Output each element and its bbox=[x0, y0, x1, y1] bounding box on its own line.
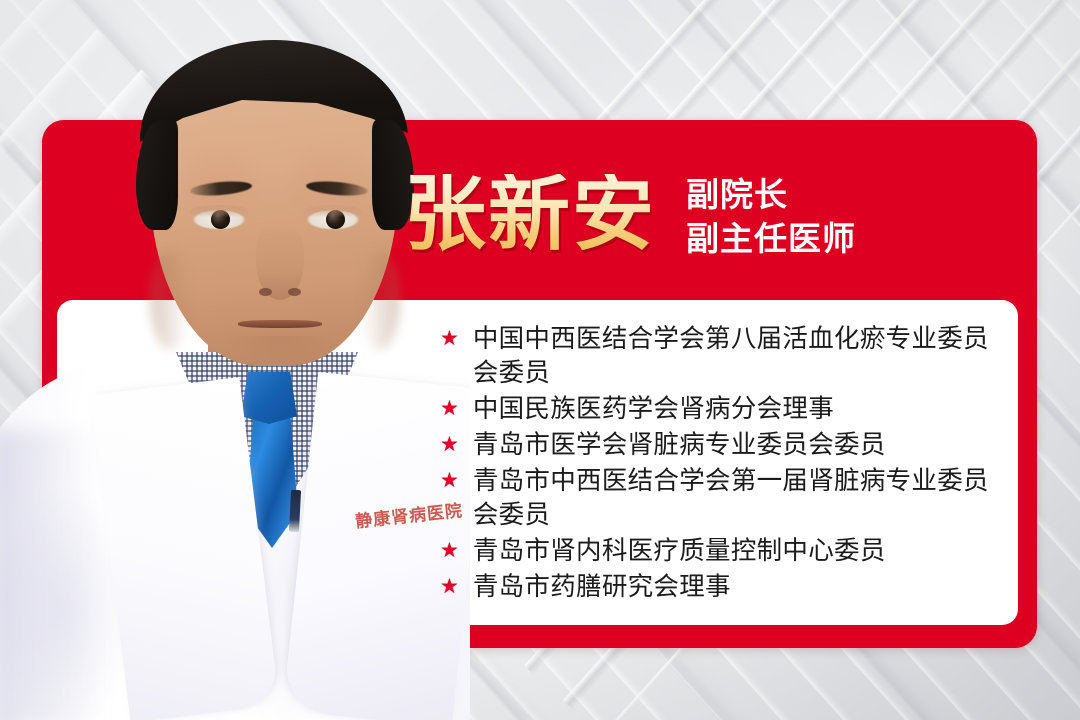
credential-text: 青岛市肾内科医疗质量控制中心委员 bbox=[473, 534, 886, 568]
credential-item: ★ 青岛市药膳研究会理事 bbox=[440, 570, 1010, 604]
nostril-right bbox=[288, 288, 301, 296]
star-bullet-icon: ★ bbox=[440, 322, 459, 356]
credential-item: ★ 中国民族医药学会肾病分会理事 bbox=[440, 392, 1010, 426]
credentials-list: ★ 中国中西医结合学会第八届活血化瘀专业委员会委员 ★ 中国民族医药学会肾病分会… bbox=[440, 322, 1010, 606]
doctor-name: 张新安 bbox=[404, 174, 656, 256]
credential-item: ★ 中国中西医结合学会第八届活血化瘀专业委员会委员 bbox=[440, 322, 1010, 390]
doctor-portrait-photo: 静康肾病医院 bbox=[0, 0, 470, 720]
star-bullet-icon: ★ bbox=[440, 534, 459, 568]
eyelid-left bbox=[190, 205, 248, 217]
star-bullet-icon: ★ bbox=[440, 570, 459, 604]
credential-text: 青岛市药膳研究会理事 bbox=[473, 570, 731, 604]
credential-text: 中国中西医结合学会第八届活血化瘀专业委员会委员 bbox=[473, 322, 1010, 390]
credential-item: ★ 青岛市肾内科医疗质量控制中心委员 bbox=[440, 534, 1010, 568]
credential-text: 青岛市医学会肾脏病专业委员会委员 bbox=[473, 428, 886, 462]
credential-item: ★ 青岛市医学会肾脏病专业委员会委员 bbox=[440, 428, 1010, 462]
credential-text: 青岛市中西医结合学会第一届肾脏病专业委员会委员 bbox=[473, 464, 1010, 532]
doctor-title-secondary: 副主任医师 bbox=[686, 220, 856, 258]
doctor-title-primary: 副院长 bbox=[686, 176, 856, 214]
mouth bbox=[238, 320, 322, 328]
blue-necktie-knot bbox=[241, 372, 297, 424]
chin-shadow bbox=[222, 336, 338, 362]
doctor-header: 张新安 副院长 副主任医师 bbox=[404, 150, 1024, 280]
eyelid-right bbox=[304, 205, 362, 217]
credential-text: 中国民族医药学会肾病分会理事 bbox=[473, 392, 834, 426]
nostril-left bbox=[259, 288, 272, 296]
jaw-shadow-right bbox=[360, 250, 400, 350]
star-bullet-icon: ★ bbox=[440, 428, 459, 462]
star-bullet-icon: ★ bbox=[440, 464, 459, 498]
doctor-titles: 副院长 副主任医师 bbox=[686, 172, 856, 259]
star-bullet-icon: ★ bbox=[440, 392, 459, 426]
credential-item: ★ 青岛市中西医结合学会第一届肾脏病专业委员会委员 bbox=[440, 464, 1010, 532]
jaw-shadow-left bbox=[150, 250, 190, 350]
